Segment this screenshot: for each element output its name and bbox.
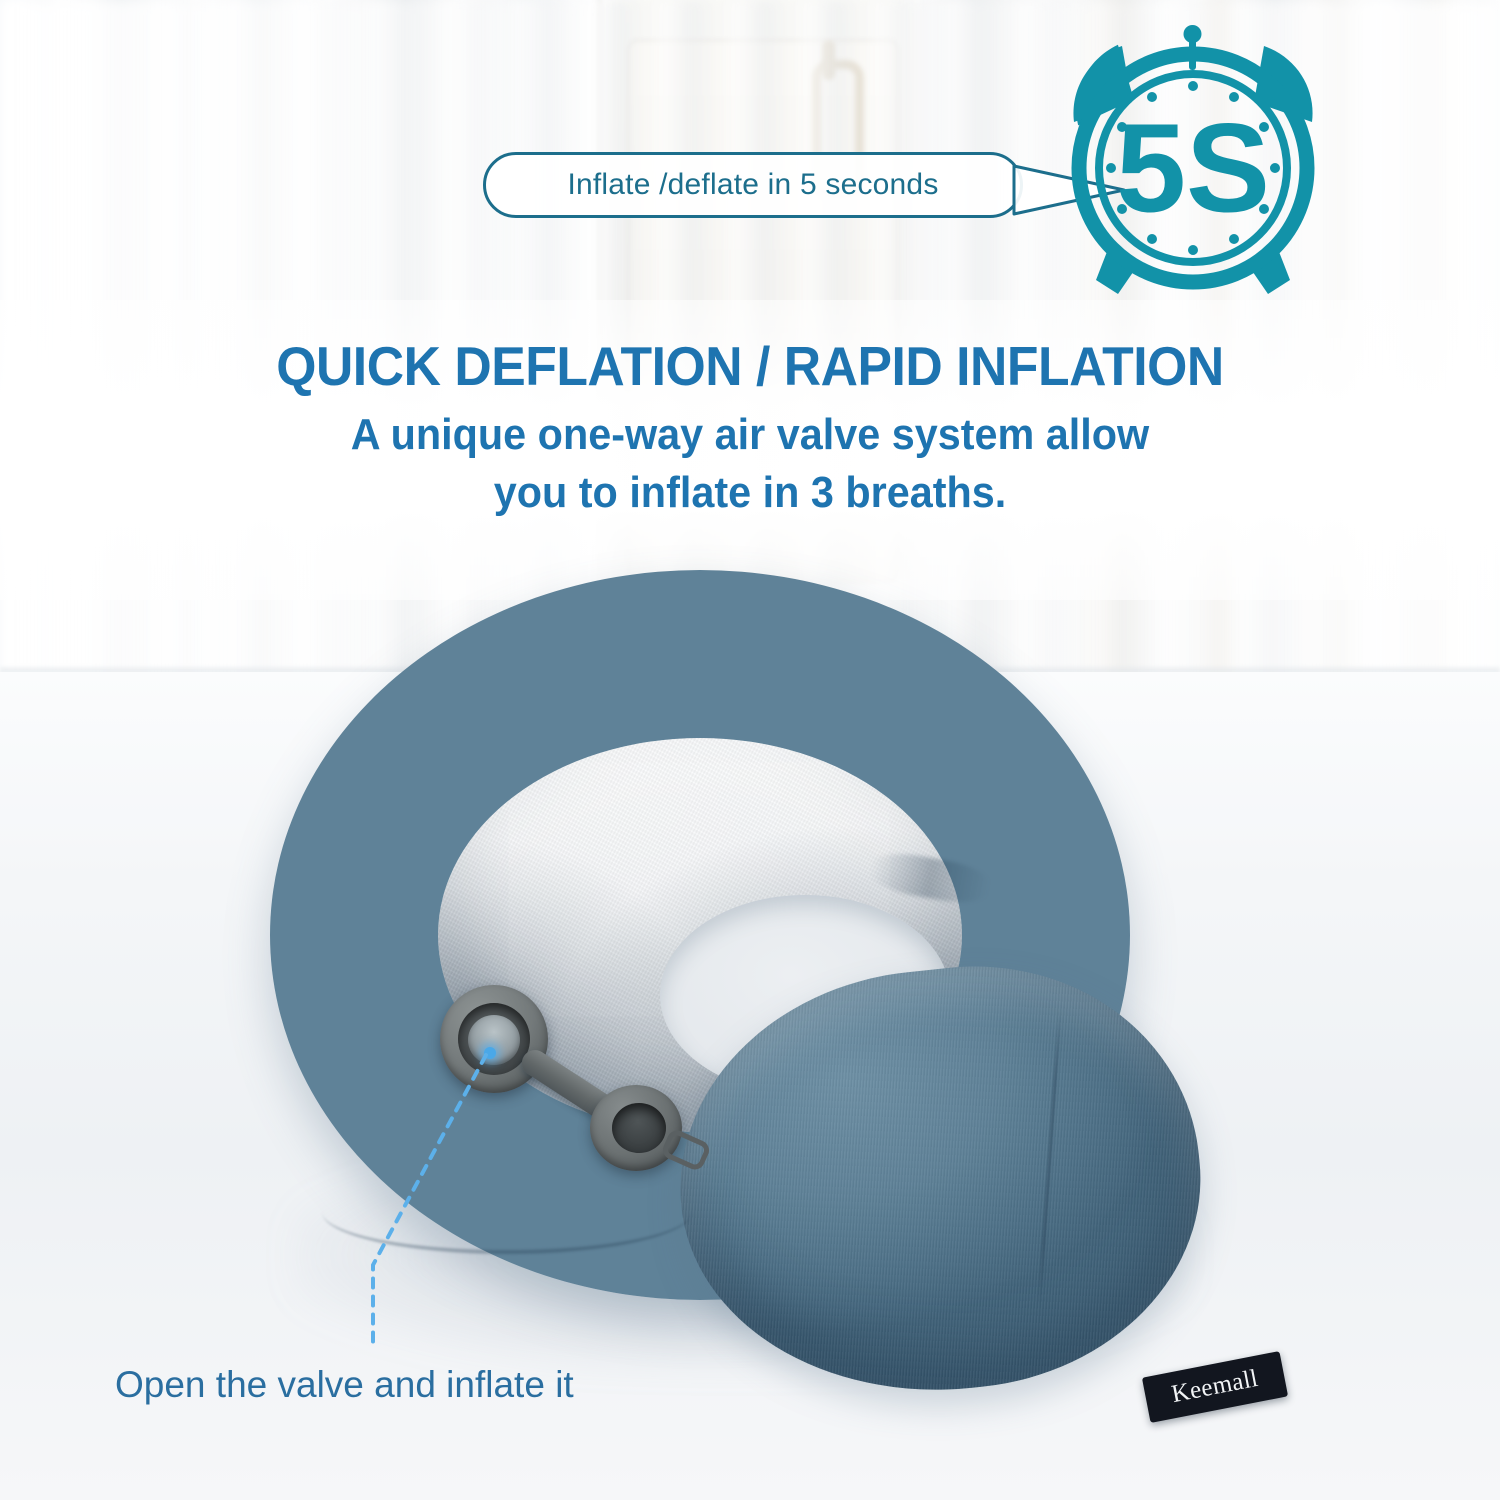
callout-bubble: Inflate /deflate in 5 seconds bbox=[483, 152, 1023, 218]
travel-pillow bbox=[230, 540, 1310, 1440]
valve-highlight-dot bbox=[484, 1047, 496, 1059]
pillow-left-seam bbox=[322, 1170, 692, 1254]
clock-label: 5S bbox=[1116, 98, 1270, 239]
air-valve-icon[interactable] bbox=[440, 985, 700, 1175]
page-subtitle-line1: A unique one-way air valve system allow bbox=[45, 406, 1455, 464]
alarm-clock-icon: 5S bbox=[1048, 18, 1338, 303]
page-subtitle-line2: you to inflate in 3 breaths. bbox=[45, 464, 1455, 522]
valve-cap-hole bbox=[612, 1103, 666, 1153]
valve-caption: Open the valve and inflate it bbox=[115, 1364, 574, 1406]
callout-bubble-text: Inflate /deflate in 5 seconds bbox=[567, 168, 938, 202]
valve-port-core bbox=[468, 1015, 520, 1065]
page-title: QUICK DEFLATION / RAPID INFLATION bbox=[45, 334, 1455, 398]
brand-name: Keemall bbox=[1169, 1365, 1260, 1409]
product-feature-image: Inflate /deflate in 5 seconds bbox=[0, 0, 1500, 1500]
page-subtitle: A unique one-way air valve system allow … bbox=[45, 406, 1455, 522]
